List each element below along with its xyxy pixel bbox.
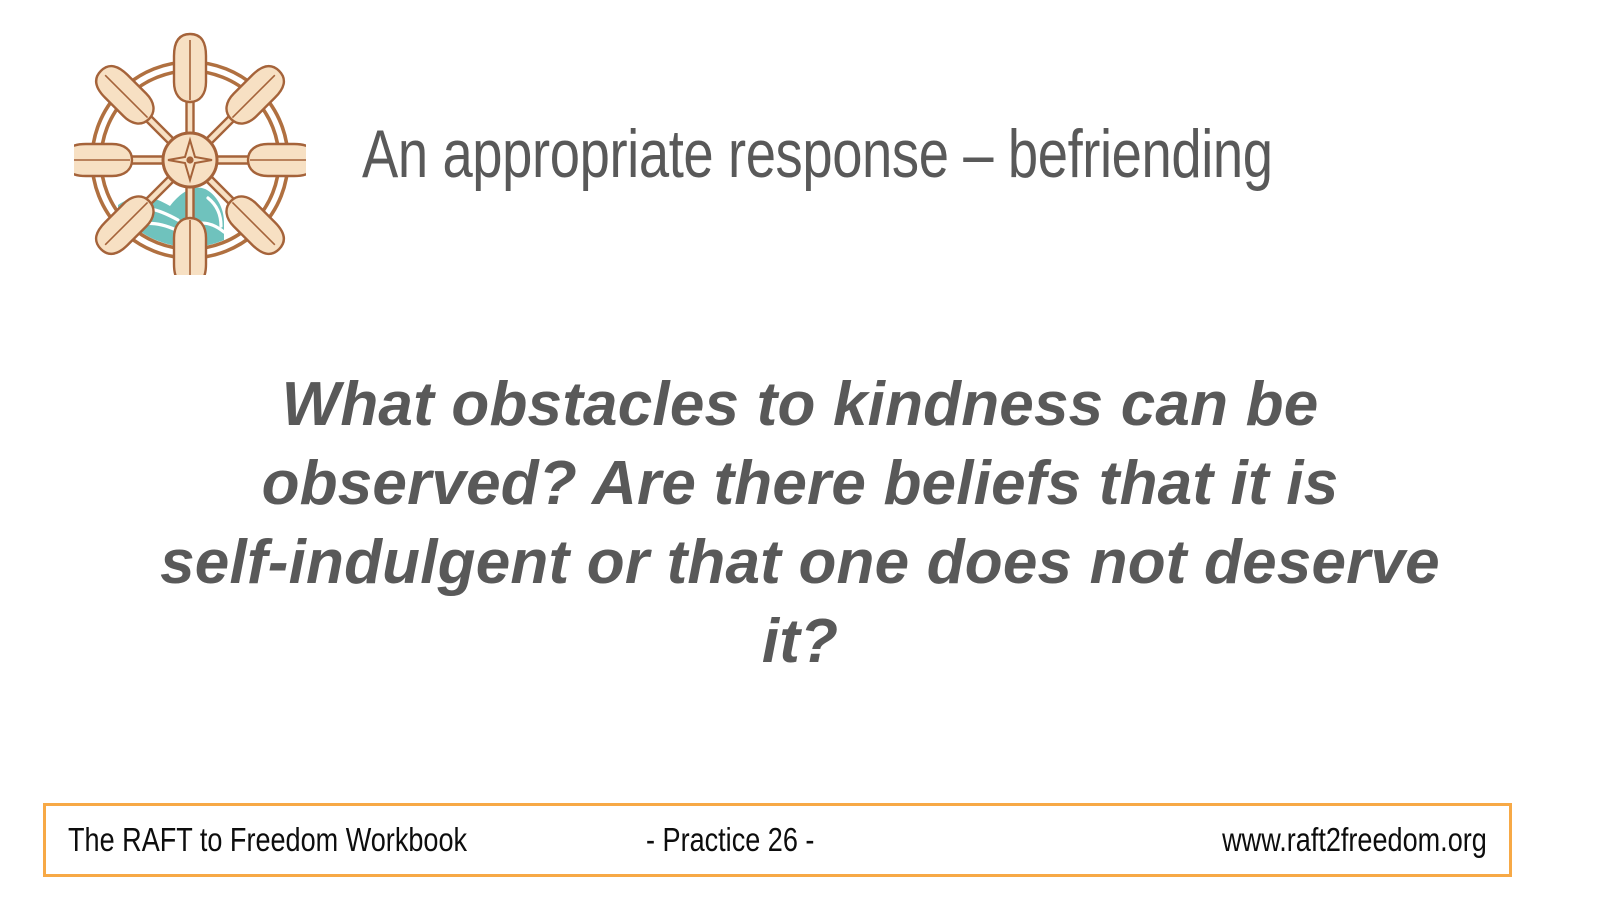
raft-wheel-logo — [74, 30, 306, 275]
body-line: it? — [70, 602, 1530, 681]
body-line: observed? Are there beliefs that it is — [70, 444, 1530, 523]
footer-workbook-title: The RAFT to Freedom Workbook — [68, 821, 467, 859]
body-line: self-indulgent or that one does not dese… — [70, 523, 1530, 602]
body-line: What obstacles to kindness can be — [70, 365, 1530, 444]
compass-rose-icon — [163, 133, 217, 187]
page-title: An appropriate response – befriending — [362, 112, 1306, 196]
footer-website-link[interactable]: www.raft2freedom.org — [1222, 821, 1487, 859]
footer-practice-number: - Practice 26 - — [646, 821, 814, 859]
footer-bar: The RAFT to Freedom Workbook - Practice … — [43, 803, 1512, 877]
slide-canvas: An appropriate response – befriending Wh… — [0, 0, 1600, 900]
body-question-text: What obstacles to kindness can be observ… — [70, 365, 1530, 681]
